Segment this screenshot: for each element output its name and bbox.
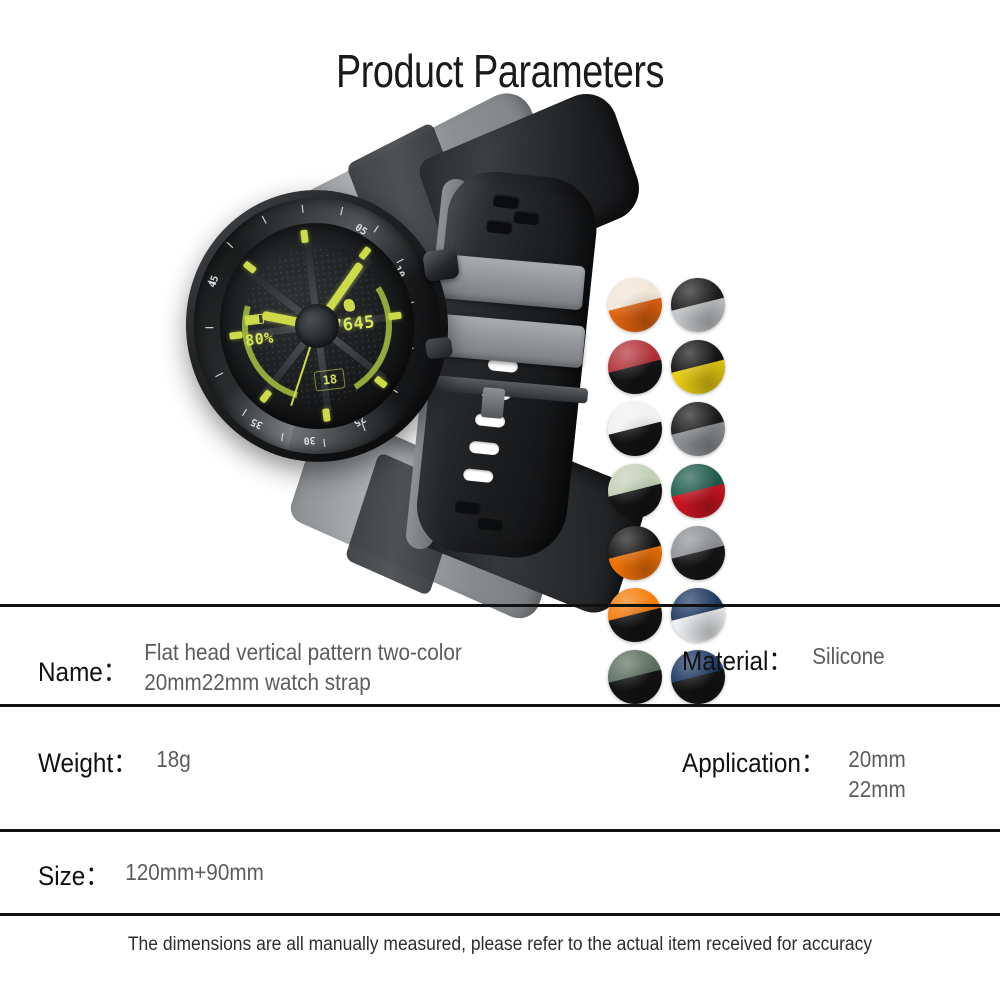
spec-label-application: Application： — [682, 741, 825, 780]
table-row: Weight： 18g Application： 20mm 22mm — [0, 707, 1000, 829]
swatch-gloss — [671, 526, 725, 580]
swatch-gloss — [608, 402, 662, 456]
spec-cell-material: Material： Silicone — [560, 607, 1000, 678]
spec-value-weight: 18g — [149, 741, 191, 774]
spec-value-application: 20mm 22mm — [841, 741, 906, 805]
swatch-gloss — [608, 278, 662, 332]
strap-vent — [486, 219, 513, 235]
swatch-gloss — [671, 402, 725, 456]
spec-cell-size: Size： 120mm+90mm — [0, 832, 560, 893]
color-swatch-black-gray[interactable] — [671, 402, 725, 456]
table-rule-bottom — [0, 913, 1000, 916]
watch-crown — [422, 248, 459, 282]
strap-hole — [469, 441, 500, 456]
spec-cell-name: Name： Flat head vertical pattern two-col… — [0, 607, 560, 698]
strap-vent — [513, 210, 540, 226]
swatch-gloss — [671, 278, 725, 332]
spec-label-weight: Weight： — [38, 741, 137, 780]
buckle-tongue — [481, 387, 506, 419]
strap-hole — [463, 468, 494, 483]
color-swatch-white-black[interactable] — [608, 402, 662, 456]
svg-text:30: 30 — [303, 434, 316, 446]
spec-label-name: Name： — [38, 637, 127, 689]
swatch-gloss — [608, 340, 662, 394]
spec-value-name: Flat head vertical pattern two-color 20m… — [137, 637, 462, 698]
table-row: Size： 120mm+90mm — [0, 832, 1000, 913]
color-swatch-gray-black[interactable] — [671, 526, 725, 580]
spec-value-size: 120mm+90mm — [118, 854, 264, 887]
dial-marker — [322, 408, 331, 422]
watch-case: 05 10 15 20 25 30 35 45 — [170, 175, 463, 477]
color-swatch-sage-black[interactable] — [608, 464, 662, 518]
dial-marker — [300, 229, 309, 243]
measurement-disclaimer: The dimensions are all manually measured… — [40, 934, 960, 956]
spec-cell-application: Application： 20mm 22mm — [560, 707, 1000, 805]
swatch-gloss — [671, 340, 725, 394]
svg-text:35: 35 — [249, 415, 265, 430]
color-swatch-green-red[interactable] — [671, 464, 725, 518]
swatch-gloss — [608, 464, 662, 518]
strap-vent — [454, 499, 481, 515]
color-swatch-cream-orange[interactable] — [608, 278, 662, 332]
watch-pusher — [425, 336, 453, 359]
strap-vent — [477, 516, 504, 532]
swatch-gloss — [671, 464, 725, 518]
svg-text:45: 45 — [207, 274, 221, 289]
spec-label-material: Material： — [682, 637, 793, 678]
color-swatch-black-orange[interactable] — [608, 526, 662, 580]
spec-value-material: Silicone — [805, 637, 885, 671]
spec-cell-weight: Weight： 18g — [0, 707, 560, 780]
dial-marker — [259, 389, 273, 404]
color-swatch-black-silver[interactable] — [671, 278, 725, 332]
battery-percent-readout: 80% — [244, 328, 275, 349]
swatch-gloss — [608, 526, 662, 580]
product-image: 05 10 15 20 25 30 35 45 — [0, 130, 1000, 590]
color-swatch-black-yellow[interactable] — [671, 340, 725, 394]
spec-label-size: Size： — [38, 854, 110, 893]
spec-table: Name： Flat head vertical pattern two-col… — [0, 604, 1000, 916]
page-title: Product Parameters — [90, 44, 910, 98]
strap-vent — [492, 194, 519, 210]
date-readout: 18 — [314, 368, 347, 392]
product-parameters-page: Product Parameters — [0, 0, 1000, 1000]
table-row: Name： Flat head vertical pattern two-col… — [0, 607, 1000, 704]
color-swatch-red-black[interactable] — [608, 340, 662, 394]
watch-assembly: 05 10 15 20 25 30 35 45 — [186, 138, 606, 578]
